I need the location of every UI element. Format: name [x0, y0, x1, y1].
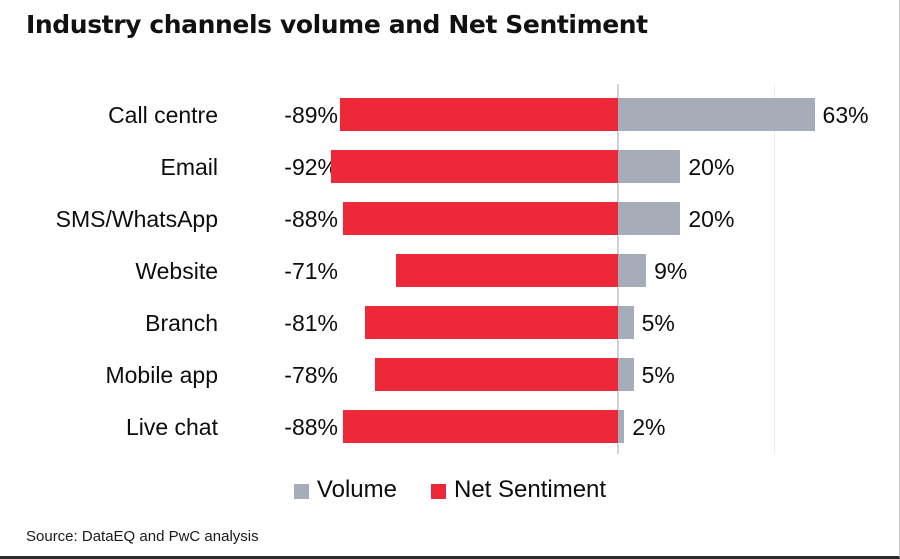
legend-label: Net Sentiment [454, 476, 606, 504]
net-sentiment-value-label: -88% [220, 206, 338, 232]
category-label: Call centre [0, 102, 218, 128]
volume-value-label: 20% [688, 206, 734, 232]
category-label: Email [0, 154, 218, 180]
bar-row: Call centre-89%63% [0, 98, 900, 131]
legend-label: Volume [317, 476, 397, 504]
net-sentiment-value-label: -92% [220, 154, 338, 180]
net-sentiment-value-label: -89% [220, 102, 338, 128]
category-label: Branch [0, 310, 218, 336]
volume-bar [618, 358, 634, 391]
chart-legend: VolumeNet Sentiment [0, 476, 900, 504]
bar-row: Mobile app-78%5% [0, 358, 900, 391]
volume-value-label: 63% [823, 102, 869, 128]
net-sentiment-bar [340, 98, 618, 131]
volume-value-label: 5% [642, 362, 675, 388]
volume-swatch [294, 484, 309, 499]
net-sentiment-bar [343, 410, 618, 443]
net-sentiment-swatch [431, 484, 446, 499]
net-sentiment-value-label: -81% [220, 310, 338, 336]
chart-title: Industry channels volume and Net Sentime… [26, 10, 648, 39]
net-sentiment-value-label: -78% [220, 362, 338, 388]
net-sentiment-bar [331, 150, 618, 183]
volume-bar [618, 254, 646, 287]
volume-bar [618, 410, 624, 443]
category-label: Website [0, 258, 218, 284]
volume-bar [618, 98, 815, 131]
volume-value-label: 9% [654, 258, 687, 284]
volume-value-label: 20% [688, 154, 734, 180]
bar-row: Email-92%20% [0, 150, 900, 183]
bar-row: Website-71%9% [0, 254, 900, 287]
volume-value-label: 2% [632, 414, 665, 440]
legend-item[interactable]: Net Sentiment [431, 476, 606, 504]
bar-row: SMS/WhatsApp-88%20% [0, 202, 900, 235]
category-label: Live chat [0, 414, 218, 440]
source-note: Source: DataEQ and PwC analysis [26, 527, 259, 546]
net-sentiment-bar [396, 254, 618, 287]
volume-bar [618, 306, 634, 339]
legend-item[interactable]: Volume [294, 476, 397, 504]
chart-card: Industry channels volume and Net Sentime… [0, 0, 900, 559]
net-sentiment-value-label: -71% [220, 258, 338, 284]
volume-value-label: 5% [642, 310, 675, 336]
volume-bar [618, 202, 680, 235]
category-label: Mobile app [0, 362, 218, 388]
bar-row: Branch-81%5% [0, 306, 900, 339]
net-sentiment-bar [365, 306, 618, 339]
net-sentiment-value-label: -88% [220, 414, 338, 440]
plot-area: Call centre-89%63%Email-92%20%SMS/WhatsA… [0, 84, 900, 464]
bar-row: Live chat-88%2% [0, 410, 900, 443]
net-sentiment-bar [343, 202, 618, 235]
category-label: SMS/WhatsApp [0, 206, 218, 232]
net-sentiment-bar [375, 358, 618, 391]
volume-bar [618, 150, 680, 183]
